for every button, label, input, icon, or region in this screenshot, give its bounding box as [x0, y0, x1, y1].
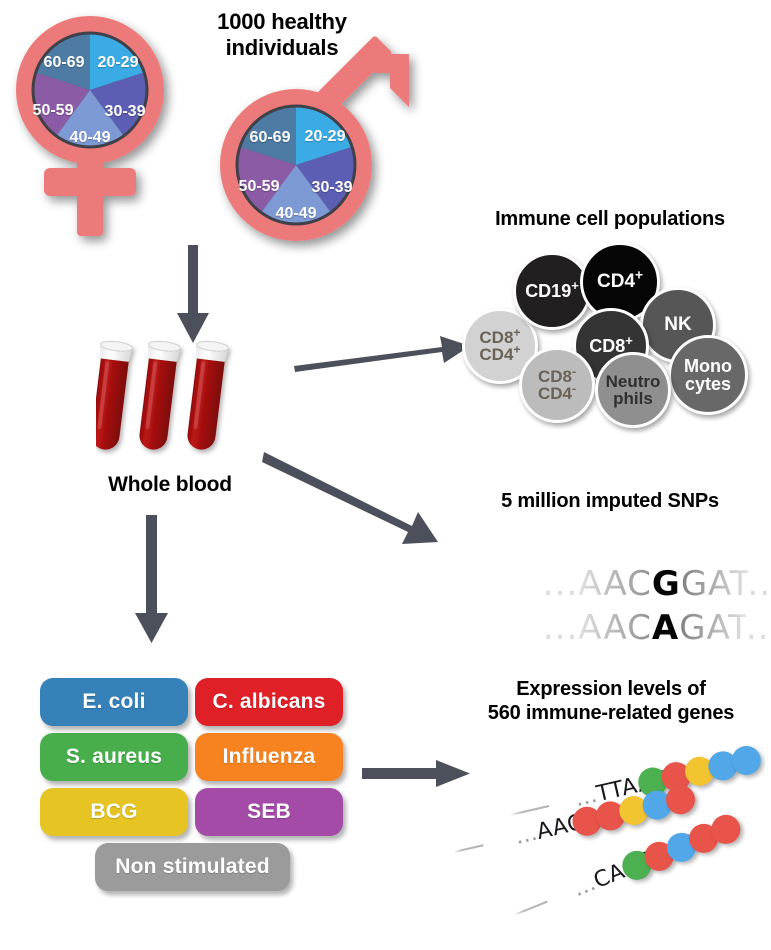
pie-label-male-60-69: 60-69 [250, 129, 291, 147]
snp-sequence-block: ...AACGGAT... ...AACAGAT... [472, 533, 752, 623]
immune-cell-label: Neutro phils [606, 373, 661, 408]
immune-cell-label: NK [664, 315, 691, 334]
stimulus-label: S. aureus [66, 745, 162, 769]
pie-label-60-69: 60-69 [44, 54, 85, 72]
immune-cell-monocytes: Mono cytes [668, 335, 748, 415]
snp-sequence-row: ...AACAGAT... [472, 577, 771, 679]
stimuli-panel: E. coli C. albicans S. aureus Influenza … [30, 670, 350, 900]
snps-title: 5 million imputed SNPs [460, 490, 760, 514]
immune-cell-label: CD19+ [525, 282, 579, 300]
snp-dots-left: ... [543, 608, 578, 648]
stimulus-pill-c-albicans[interactable]: C. albicans [195, 678, 343, 726]
arrow-down-icon-blood-to-stimuli [130, 515, 172, 645]
immune-cell-neutrophils: Neutro phils [595, 352, 671, 428]
stimulus-label: C. albicans [212, 690, 325, 714]
snp-right-bases: GAT [679, 608, 746, 648]
stimulus-pill-seb[interactable]: SEB [195, 788, 343, 836]
stimulus-label: Influenza [223, 745, 316, 769]
immune-cell-label: CD4+ [597, 272, 643, 291]
stimulus-pill-bcg[interactable]: BCG [40, 788, 188, 836]
stimulus-pill-non-stimulated[interactable]: Non stimulated [95, 843, 290, 891]
figure-canvas: 1000 healthy individuals [0, 0, 771, 922]
male-gender-icon: 20-29 30-39 40-49 50-59 60-69 [204, 52, 434, 252]
snp-variant-base: A [652, 608, 679, 648]
arrow-down-icon-cohort-to-blood [172, 245, 214, 345]
arrow-right-icon-blood-to-immune [292, 330, 472, 378]
female-gender-icon: 20-29 30-39 40-49 50-59 60-69 [4, 8, 194, 248]
stimulus-pill-influenza[interactable]: Influenza [195, 733, 343, 781]
expression-title: Expression levels of 560 immune-related … [455, 678, 767, 725]
pie-label-40-49: 40-49 [70, 129, 111, 147]
immune-cell-label: CD8+ CD4+ [479, 329, 520, 364]
immune-cell-cd8n-cd4n: CD8- CD4- [519, 347, 595, 423]
snp-left-bases: AAC [578, 608, 652, 648]
pie-label-male-30-39: 30-39 [312, 179, 353, 197]
pie-label-30-39: 30-39 [105, 103, 146, 121]
stimulus-pill-s-aureus[interactable]: S. aureus [40, 733, 188, 781]
immune-cell-cluster: CD8+ CD4+ CD19+ CD4+ NK CD8+ Mono cytes … [462, 240, 762, 420]
pie-label-50-59: 50-59 [33, 102, 74, 120]
stimulus-label: Non stimulated [115, 855, 269, 879]
whole-blood-label: Whole blood [60, 473, 280, 498]
snp-dots-right: ... [746, 608, 771, 648]
immune-populations-title: Immune cell populations [455, 208, 765, 232]
pie-label-male-40-49: 40-49 [276, 205, 317, 223]
stimulus-pill-e-coli[interactable]: E. coli [40, 678, 188, 726]
pie-label-male-50-59: 50-59 [239, 178, 280, 196]
immune-cell-label: Mono cytes [684, 357, 732, 394]
pie-label-male-20-29: 20-29 [305, 128, 346, 146]
blood-tubes-icon [96, 340, 276, 470]
immune-cell-cd19p: CD19+ [513, 252, 591, 330]
stimulus-label: E. coli [82, 690, 145, 714]
immune-cell-label: CD8- CD4- [538, 368, 576, 403]
pie-label-20-29: 20-29 [98, 54, 139, 72]
stimulus-label: SEB [247, 800, 291, 824]
arrow-down-right-icon-blood-to-snps [262, 448, 462, 558]
stimulus-label: BCG [90, 800, 137, 824]
expression-dna-strands: ...TTAACGG ...AACGGAT ...CACGCAA [452, 740, 771, 922]
